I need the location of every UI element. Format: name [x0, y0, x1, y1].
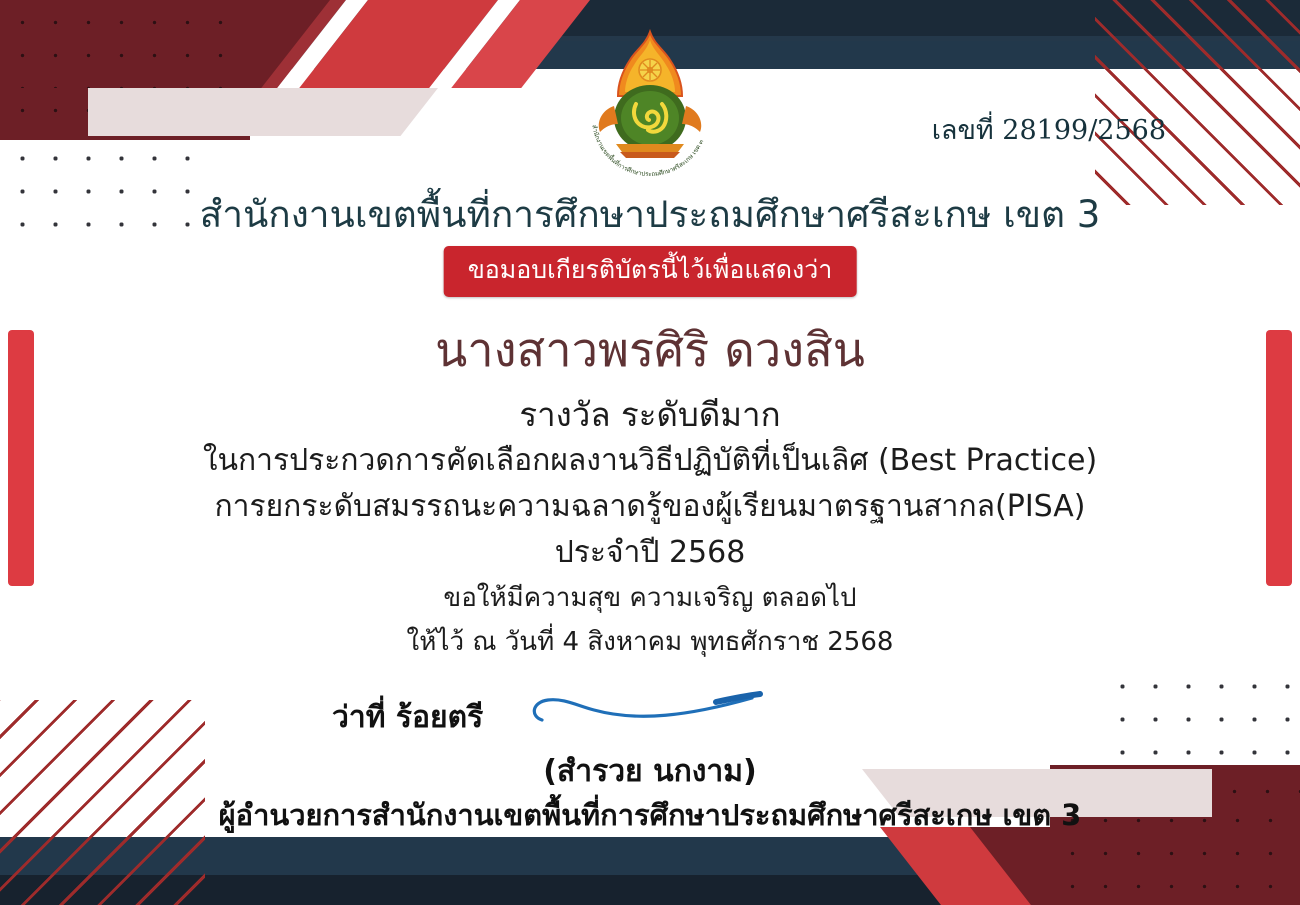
certificate-content: สำนักงานเขตพื้นที่การศึกษาประถมศึกษาศรีส…: [0, 0, 1300, 905]
competition-line: ในการประกวดการคัดเลือกผลงานวิธีปฏิบัติที…: [0, 438, 1300, 484]
signature-block: ว่าที่ ร้อยตรี: [0, 694, 1300, 742]
signer-name: (สำรวย นกงาม): [0, 748, 1300, 795]
award-level-line: รางวัล ระดับดีมาก: [0, 392, 1300, 438]
signer-rank-label: ว่าที่ ร้อยตรี: [332, 694, 483, 741]
signer-title: ผู้อำนวยการสำนักงานเขตพื้นที่การศึกษาประ…: [0, 792, 1300, 838]
award-ribbon-banner: ขอมอบเกียรติบัตรนี้ไว้เพื่อแสดงว่า: [444, 246, 857, 297]
ministry-emblem-icon: สำนักงานเขตพื้นที่การศึกษาประถมศึกษาศรีส…: [570, 26, 730, 176]
signature-rank-row: ว่าที่ ร้อยตรี: [0, 694, 1300, 742]
blessing-line: ขอให้มีความสุข ความเจริญ ตลอดไป: [0, 576, 1300, 620]
certificate-body: รางวัล ระดับดีมาก ในการประกวดการคัดเลือก…: [0, 392, 1300, 664]
issue-date-line: ให้ไว้ ณ วันที่ 4 สิงหาคม พุทธศักราช 256…: [0, 620, 1300, 664]
recipient-name: นางสาวพรศิริ ดวงสิน: [0, 312, 1300, 387]
handwritten-signature-icon: [520, 686, 780, 746]
organization-title: สำนักงานเขตพื้นที่การศึกษาประถมศึกษาศรีส…: [0, 185, 1300, 244]
certificate-serial-number: เลขที่ 28199/2568: [932, 108, 1166, 151]
year-line: ประจำปี 2568: [0, 530, 1300, 576]
program-line: การยกระดับสมรรถนะความฉลาดรู้ของผู้เรียนม…: [0, 484, 1300, 530]
certificate-page: สำนักงานเขตพื้นที่การศึกษาประถมศึกษาศรีส…: [0, 0, 1300, 905]
